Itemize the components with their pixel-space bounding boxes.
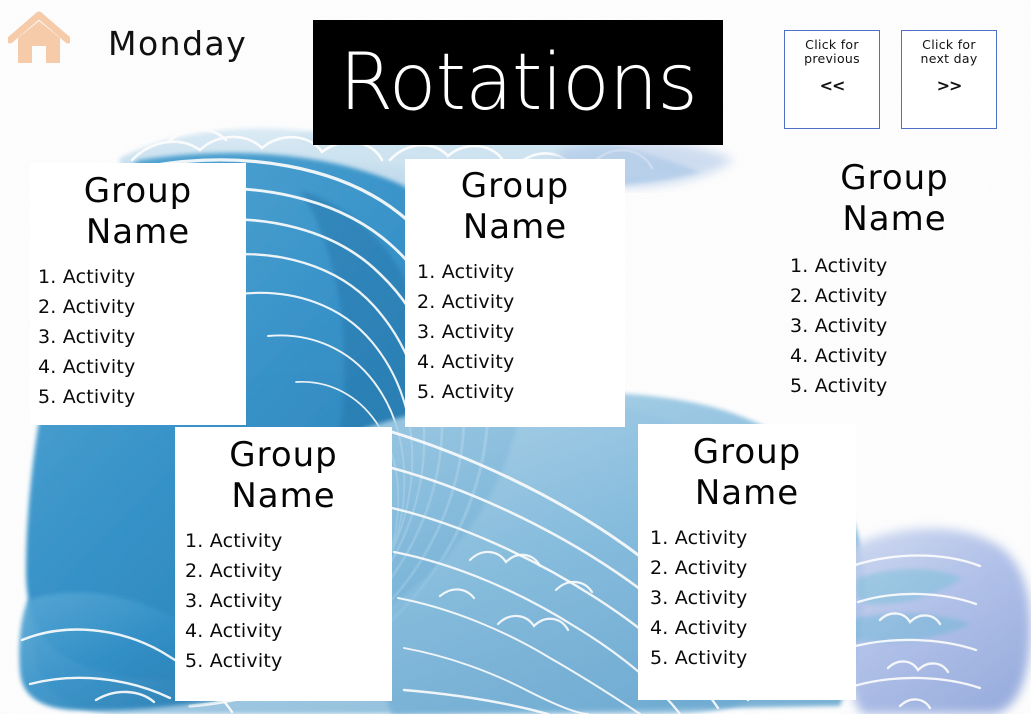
group-title[interactable]: Group Name [782,152,1007,241]
activity-item[interactable]: 5. Activity [38,386,246,408]
day-label: Monday [108,24,247,63]
group-title[interactable]: Group Name [175,427,392,518]
activity-item[interactable]: 4. Activity [790,345,1007,367]
group-card[interactable]: Group Name 1. Activity 2. Activity 3. Ac… [782,152,1007,422]
activity-item[interactable]: 3. Activity [417,321,625,343]
group-title[interactable]: Group Name [638,424,856,515]
activity-item[interactable]: 4. Activity [38,356,246,378]
next-arrow-icon: >> [902,76,996,95]
previous-day-label: Click for previous [785,38,879,67]
activity-item[interactable]: 2. Activity [185,560,392,582]
previous-day-button[interactable]: Click for previous << [784,30,880,129]
activity-item[interactable]: 2. Activity [650,557,856,579]
group-title[interactable]: Group Name [405,159,625,249]
next-day-button[interactable]: Click for next day >> [901,30,997,129]
activity-item[interactable]: 3. Activity [38,326,246,348]
page-title: Rotations [339,44,697,122]
activity-item[interactable]: 1. Activity [417,261,625,283]
activity-item[interactable]: 4. Activity [185,620,392,642]
activity-item[interactable]: 3. Activity [185,590,392,612]
activity-item[interactable]: 2. Activity [790,285,1007,307]
activity-list: 1. Activity 2. Activity 3. Activity 4. A… [782,255,1007,397]
activity-item[interactable]: 4. Activity [650,617,856,639]
activity-list: 1. Activity 2. Activity 3. Activity 4. A… [405,261,625,403]
activity-list: 1. Activity 2. Activity 3. Activity 4. A… [638,527,856,669]
home-icon[interactable] [8,10,70,68]
group-title[interactable]: Group Name [30,163,246,254]
activity-item[interactable]: 1. Activity [38,266,246,288]
activity-item[interactable]: 1. Activity [185,530,392,552]
rotations-board: Monday Rotations Click for previous << C… [0,0,1031,714]
activity-item[interactable]: 2. Activity [38,296,246,318]
activity-item[interactable]: 5. Activity [650,647,856,669]
activity-item[interactable]: 5. Activity [790,375,1007,397]
activity-item[interactable]: 2. Activity [417,291,625,313]
activity-item[interactable]: 1. Activity [790,255,1007,277]
activity-list: 1. Activity 2. Activity 3. Activity 4. A… [30,266,246,408]
activity-item[interactable]: 1. Activity [650,527,856,549]
activity-item[interactable]: 3. Activity [650,587,856,609]
activity-item[interactable]: 4. Activity [417,351,625,373]
group-card[interactable]: Group Name 1. Activity 2. Activity 3. Ac… [175,427,392,701]
previous-arrow-icon: << [785,76,879,95]
group-card[interactable]: Group Name 1. Activity 2. Activity 3. Ac… [638,424,856,700]
next-day-label: Click for next day [902,38,996,67]
group-card[interactable]: Group Name 1. Activity 2. Activity 3. Ac… [30,163,246,425]
activity-item[interactable]: 5. Activity [417,381,625,403]
activity-item[interactable]: 3. Activity [790,315,1007,337]
activity-list: 1. Activity 2. Activity 3. Activity 4. A… [175,530,392,672]
title-banner: Rotations [313,20,723,145]
activity-item[interactable]: 5. Activity [185,650,392,672]
group-card[interactable]: Group Name 1. Activity 2. Activity 3. Ac… [405,159,625,427]
